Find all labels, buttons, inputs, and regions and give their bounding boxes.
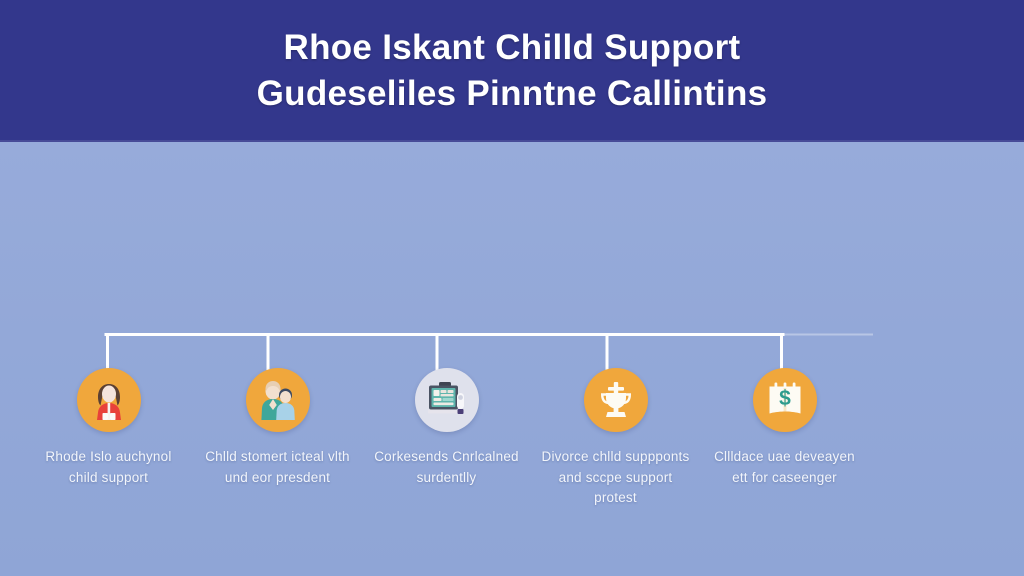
computer-document-icon: [415, 368, 479, 432]
column-item-2[interactable]: Chlld stomert icteal vlth und eor presde…: [193, 368, 362, 488]
header-band: Rhoe Iskant Chilld Support Gudeseliles P…: [0, 0, 1024, 142]
column-item-4[interactable]: Divorce chlld suppponts and sccpe suppor…: [531, 368, 700, 509]
column-label-5: Cllldace uae deveayen ett for caseenger: [710, 447, 860, 488]
page-title-line-2: Gudeseliles Pinntne Callintins: [257, 71, 768, 117]
svg-text:$: $: [779, 387, 791, 410]
parent-and-child-icon: [246, 368, 310, 432]
calendar-book-dollar-icon: $: [753, 368, 817, 432]
trophy-cup-icon: [584, 368, 648, 432]
column-label-1: Rhode Islo auchynol child support: [34, 447, 184, 488]
girl-person-icon: [77, 368, 141, 432]
column-list: Rhode Islo auchynol child support Chlld …: [24, 368, 1000, 509]
column-item-1[interactable]: Rhode Islo auchynol child support: [24, 368, 193, 488]
infographic-poster: Rhoe Iskant Chilld Support Gudeseliles P…: [0, 0, 1024, 576]
column-label-4: Divorce chlld suppponts and sccpe suppor…: [541, 447, 691, 509]
page-title-line-1: Rhoe Iskant Chilld Support: [284, 25, 741, 71]
column-item-3[interactable]: Corkesends Cnrlcalned surdentlly: [362, 368, 531, 488]
column-label-2: Chlld stomert icteal vlth und eor presde…: [203, 447, 353, 488]
column-item-5[interactable]: $ Cllldace uae deveayen ett for caseenge…: [700, 368, 869, 488]
column-label-3: Corkesends Cnrlcalned surdentlly: [372, 447, 522, 488]
body-area: [0, 142, 1024, 576]
